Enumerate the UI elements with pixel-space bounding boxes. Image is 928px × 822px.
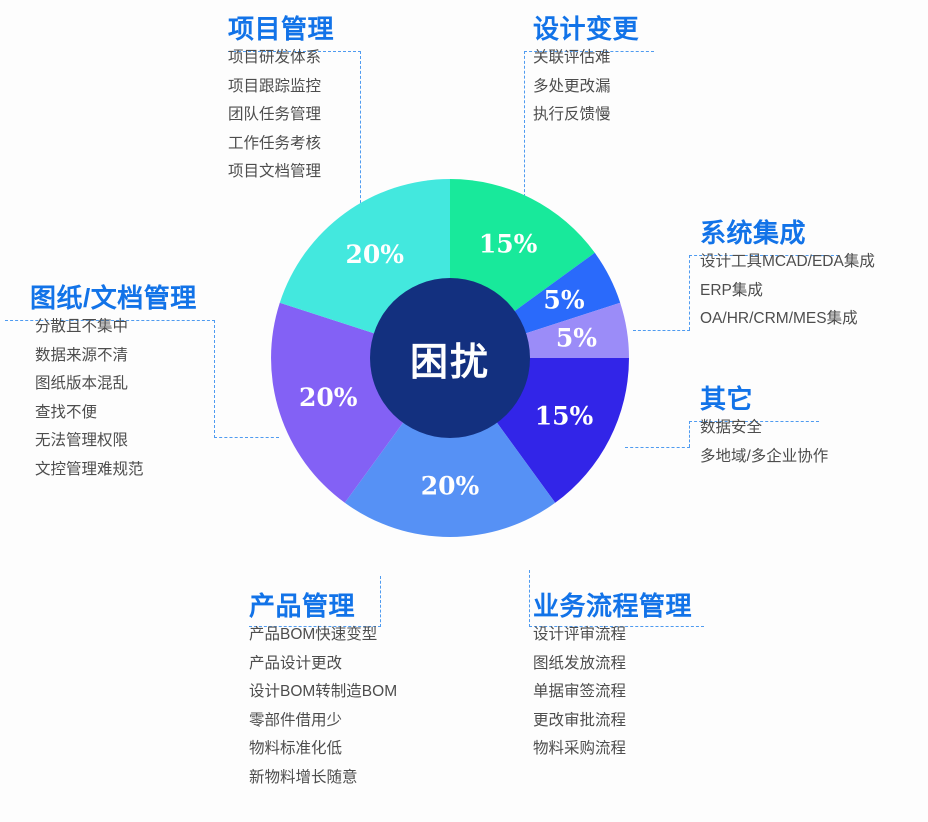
block-document-management: 图纸/文档管理 分散且不集中 数据来源不清 图纸版本混乱 查找不便 无法管理权限… — [30, 283, 197, 484]
list-item: 更改审批流程 — [533, 707, 692, 736]
block-design-change: 设计变更 关联评估难 多处更改漏 执行反馈慢 — [533, 14, 639, 130]
list-item: 多处更改漏 — [533, 73, 639, 102]
slice-label-others: 5% — [556, 324, 597, 353]
list-item: 分散且不集中 — [35, 313, 197, 342]
block-list-others: 数据安全 多地域/多企业协作 — [700, 414, 828, 471]
list-item: 文控管理难规范 — [35, 456, 197, 485]
list-item: 设计BOM转制造BOM — [249, 678, 397, 707]
list-item: 物料标准化低 — [249, 735, 397, 764]
list-item: 单据审签流程 — [533, 678, 692, 707]
block-business-process: 业务流程管理 设计评审流程 图纸发放流程 单据审签流程 更改审批流程 物料采购流… — [533, 591, 692, 764]
block-list-business-process: 设计评审流程 图纸发放流程 单据审签流程 更改审批流程 物料采购流程 — [533, 621, 692, 764]
list-item: 设计评审流程 — [533, 621, 692, 650]
list-item: 零部件借用少 — [249, 707, 397, 736]
list-item: 物料采购流程 — [533, 735, 692, 764]
slice-label-product-management: 20% — [421, 472, 480, 501]
donut-hub — [370, 278, 530, 438]
slice-label-project-management: 20% — [346, 240, 405, 269]
list-item: 新物料增长随意 — [249, 764, 397, 793]
block-list-project-management: 项目研发体系 项目跟踪监控 团队任务管理 工作任务考核 项目文档管理 — [228, 44, 334, 187]
block-title-project-management: 项目管理 — [228, 14, 334, 44]
slice-label-document-management: 20% — [299, 383, 358, 412]
list-item: 图纸版本混乱 — [35, 370, 197, 399]
slice-label-system-integration: 5% — [543, 285, 584, 314]
list-item: 数据安全 — [700, 414, 828, 443]
block-title-system-integration: 系统集成 — [700, 218, 875, 248]
list-item: 产品设计更改 — [249, 650, 397, 679]
list-item: 项目文档管理 — [228, 158, 334, 187]
block-title-business-process: 业务流程管理 — [533, 591, 692, 621]
block-system-integration: 系统集成 设计工具MCAD/EDA集成 ERP集成 OA/HR/CRM/MES集… — [700, 218, 875, 334]
block-title-document-management: 图纸/文档管理 — [30, 283, 197, 313]
list-item: 关联评估难 — [533, 44, 639, 73]
block-list-product-management: 产品BOM快速变型 产品设计更改 设计BOM转制造BOM 零部件借用少 物料标准… — [249, 621, 397, 792]
block-title-product-management: 产品管理 — [249, 591, 397, 621]
list-item: 多地域/多企业协作 — [700, 443, 828, 472]
block-project-management: 项目管理 项目研发体系 项目跟踪监控 团队任务管理 工作任务考核 项目文档管理 — [228, 14, 334, 187]
block-list-document-management: 分散且不集中 数据来源不清 图纸版本混乱 查找不便 无法管理权限 文控管理难规范 — [30, 313, 197, 484]
list-item: 图纸发放流程 — [533, 650, 692, 679]
list-item: 团队任务管理 — [228, 101, 334, 130]
list-item: 执行反馈慢 — [533, 101, 639, 130]
block-title-others: 其它 — [700, 384, 828, 414]
slice-label-design-change: 15% — [479, 230, 538, 259]
list-item: 查找不便 — [35, 399, 197, 428]
infographic-stage: 15% 5% 5% 15% 20% 20% 20% 困扰 项目管理 项目研发体系… — [0, 0, 928, 822]
block-list-system-integration: 设计工具MCAD/EDA集成 ERP集成 OA/HR/CRM/MES集成 — [700, 248, 875, 334]
list-item: 工作任务考核 — [228, 130, 334, 159]
list-item: 无法管理权限 — [35, 427, 197, 456]
block-list-design-change: 关联评估难 多处更改漏 执行反馈慢 — [533, 44, 639, 130]
donut-chart: 15% 5% 5% 15% 20% 20% 20% 困扰 — [271, 179, 629, 537]
donut-svg: 15% 5% 5% 15% 20% 20% 20% — [271, 179, 629, 537]
list-item: ERP集成 — [700, 277, 875, 306]
list-item: 项目研发体系 — [228, 44, 334, 73]
block-product-management: 产品管理 产品BOM快速变型 产品设计更改 设计BOM转制造BOM 零部件借用少… — [249, 591, 397, 792]
slice-label-business-process: 15% — [535, 402, 594, 431]
list-item: 数据来源不清 — [35, 342, 197, 371]
list-item: 项目跟踪监控 — [228, 73, 334, 102]
list-item: OA/HR/CRM/MES集成 — [700, 305, 875, 334]
block-title-design-change: 设计变更 — [533, 14, 639, 44]
list-item: 设计工具MCAD/EDA集成 — [700, 248, 875, 277]
block-others: 其它 数据安全 多地域/多企业协作 — [700, 384, 828, 471]
list-item: 产品BOM快速变型 — [249, 621, 397, 650]
